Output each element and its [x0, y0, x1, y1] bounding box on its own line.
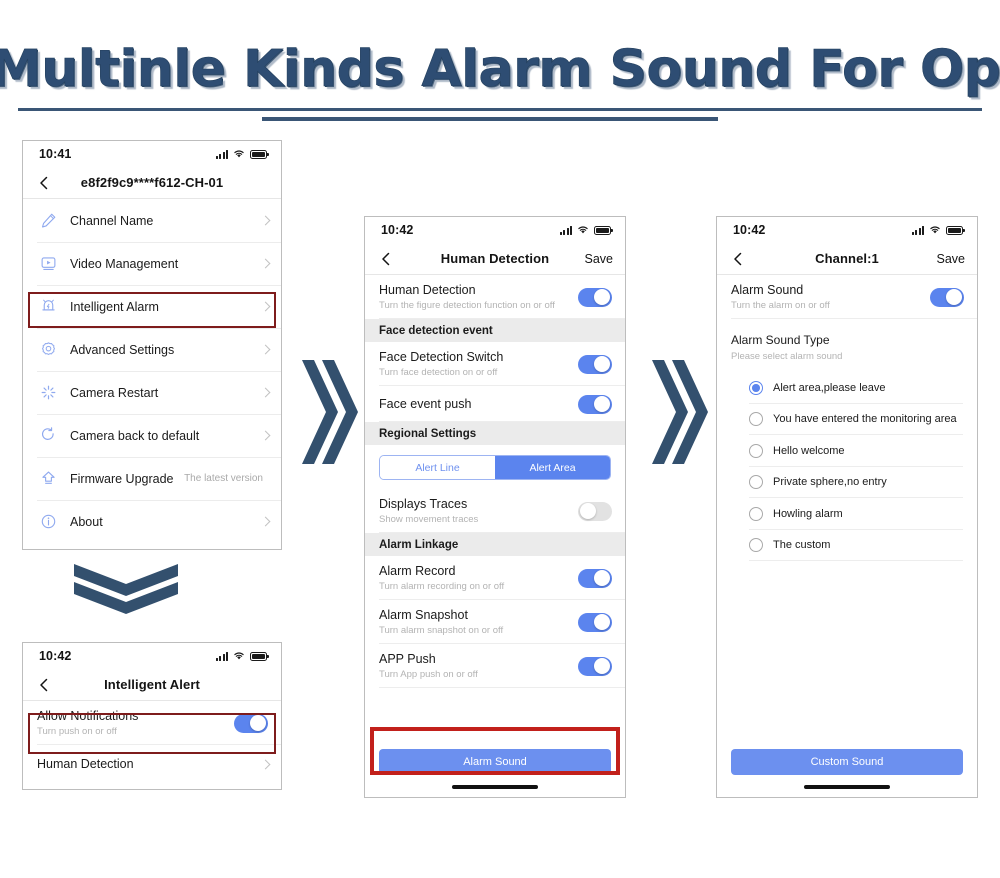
radio-option-the-custom[interactable]: The custom — [717, 530, 977, 562]
toggle-row-title: Alarm Record — [379, 563, 578, 579]
back-icon[interactable] — [37, 176, 51, 190]
group-subtitle: Please select alarm sound — [731, 351, 963, 362]
signal-icon — [560, 226, 572, 235]
radio-option-label: Alert area,please leave — [773, 382, 886, 394]
list-item-firmware-upgrade[interactable]: Firmware Upgrade The latest version — [23, 457, 281, 500]
status-bar: 10:42 — [365, 217, 625, 243]
toggle-row-allow-notifications[interactable]: Allow Notifications Turn push on or off — [23, 701, 281, 745]
home-indicator — [452, 785, 538, 789]
chevron-right-group-1 — [300, 358, 360, 466]
toggle-row-text: Face event push — [379, 396, 578, 412]
chevron-down-group — [72, 562, 180, 614]
chevron-right-icon — [261, 259, 271, 269]
nav-bar: Intelligent Alert — [23, 669, 281, 701]
toggle-row-title: Face event push — [379, 396, 578, 412]
toggle-row-subtitle: Turn face detection on or off — [379, 367, 578, 378]
info-icon — [37, 511, 59, 533]
double-chevron-down-icon — [72, 562, 180, 614]
status-icons — [912, 225, 963, 235]
alarm-sound-button[interactable]: Alarm Sound — [379, 749, 611, 775]
toggle-row-human-detection[interactable]: Human Detection Turn the figure detectio… — [365, 275, 625, 319]
toggle-row-subtitle: Turn the figure detection function on or… — [379, 300, 578, 311]
alarm-sound-type-group-header: Alarm Sound Type Please select alarm sou… — [717, 319, 977, 372]
toggle-switch[interactable] — [578, 395, 612, 414]
list-item-video-management[interactable]: Video Management — [23, 242, 281, 285]
toggle-row-text: Alarm Snapshot Turn alarm snapshot on or… — [379, 607, 578, 637]
wifi-icon — [233, 149, 245, 159]
toggle-row-text: Human Detection Turn the figure detectio… — [379, 282, 578, 312]
list-item-label: Camera Restart — [70, 386, 262, 400]
radio-option-private-sphere-no-entry[interactable]: Private sphere,no entry — [717, 467, 977, 499]
double-chevron-right-icon — [650, 358, 710, 466]
chevron-right-icon — [261, 345, 271, 355]
toggle-row-title: Allow Notifications — [37, 708, 234, 724]
toggle-row-text: Face Detection Switch Turn face detectio… — [379, 349, 578, 379]
radio-option-you-have-entered-the-monitoring-area[interactable]: You have entered the monitoring area — [717, 404, 977, 436]
gear-icon — [37, 339, 59, 361]
group-title: Alarm Sound Type — [731, 333, 963, 347]
home-indicator — [804, 785, 890, 789]
battery-icon — [250, 150, 267, 159]
list-item-human-detection[interactable]: Human Detection — [23, 745, 281, 783]
toggle-row-text: Alarm Sound Turn the alarm on or off — [731, 282, 930, 312]
primary-button-wrap: Alarm Sound — [365, 749, 625, 775]
radio-button[interactable] — [749, 538, 763, 552]
battery-icon — [250, 652, 267, 661]
chevron-right-icon — [261, 216, 271, 226]
toggle-row-text: APP Push Turn App push on or off — [379, 651, 578, 681]
segment-alert-line[interactable]: Alert Line — [380, 456, 495, 479]
chevron-right-icon — [261, 517, 271, 527]
alarm-sound-options-list: Alert area,please leave You have entered… — [717, 372, 977, 561]
phone-human-detection: 10:42 Human Detection Save Human Detecti — [364, 216, 626, 798]
toggle-row-title: Displays Traces — [379, 496, 578, 512]
status-clock: 10:42 — [733, 223, 765, 237]
save-button[interactable]: Save — [585, 252, 614, 266]
radio-button[interactable] — [749, 444, 763, 458]
status-clock: 10:42 — [39, 649, 71, 663]
toggle-switch[interactable] — [578, 288, 612, 307]
battery-icon — [594, 226, 611, 235]
section-header-alarm-linkage: Alarm Linkage — [365, 533, 625, 556]
phone-device-settings: 10:41 e8f2f9c9****f612-CH-01 — [22, 140, 282, 550]
list-item-label: Video Management — [70, 257, 262, 271]
toggle-row-subtitle: Show movement traces — [379, 514, 578, 525]
radio-option-label: Howling alarm — [773, 508, 843, 520]
custom-sound-button[interactable]: Custom Sound — [731, 749, 963, 775]
toggle-row-subtitle: Turn push on or off — [37, 726, 234, 737]
page-title-wrap: Multinle Kinds Alarm Sound For Option — [0, 44, 1000, 95]
radio-option-label: The custom — [773, 539, 830, 551]
list-item-channel-name[interactable]: Channel Name — [23, 199, 281, 242]
toggle-switch[interactable] — [234, 714, 268, 733]
back-icon[interactable] — [379, 252, 393, 266]
back-icon[interactable] — [731, 252, 745, 266]
toggle-row-subtitle: Turn the alarm on or off — [731, 300, 930, 311]
radio-option-label: You have entered the monitoring area — [773, 413, 957, 425]
primary-button-wrap: Custom Sound — [717, 749, 977, 775]
list-item-label: About — [70, 515, 262, 529]
nav-title: e8f2f9c9****f612-CH-01 — [23, 175, 281, 190]
title-rule-top — [18, 108, 982, 111]
list-item-label: Firmware Upgrade — [70, 472, 184, 486]
chevron-right-icon — [261, 431, 271, 441]
toggle-row-text: Displays Traces Show movement traces — [379, 496, 578, 526]
toggle-row-alarm-sound[interactable]: Alarm Sound Turn the alarm on or off — [717, 275, 977, 319]
segment-alert-area[interactable]: Alert Area — [495, 456, 610, 479]
list-item-label: Camera back to default — [70, 429, 262, 443]
page-title: Multinle Kinds Alarm Sound For Option — [0, 44, 1000, 95]
alarm-bell-icon — [37, 296, 59, 318]
segmented-control-wrap: Alert Line Alert Area — [365, 445, 625, 489]
toggle-switch[interactable] — [578, 657, 612, 676]
toggle-switch[interactable] — [578, 355, 612, 374]
toggle-switch[interactable] — [930, 288, 964, 307]
toggle-row-text: Allow Notifications Turn push on or off — [37, 708, 234, 738]
nav-bar: e8f2f9c9****f612-CH-01 — [23, 167, 281, 199]
phone-intelligent-alert: 10:42 Intelligent Alert Allow Notificati… — [22, 642, 282, 790]
signal-icon — [216, 150, 228, 159]
signal-icon — [216, 652, 228, 661]
restart-burst-icon — [37, 382, 59, 404]
section-header-face-detection-event: Face detection event — [365, 319, 625, 342]
status-clock: 10:41 — [39, 147, 71, 161]
toggle-row-app-push[interactable]: APP Push Turn App push on or off — [365, 644, 625, 688]
toggle-row-subtitle: Turn alarm recording on or off — [379, 581, 578, 592]
toggle-row-displays-traces[interactable]: Displays Traces Show movement traces — [365, 489, 625, 533]
toggle-row-title: Alarm Snapshot — [379, 607, 578, 623]
radio-option-hello-welcome[interactable]: Hello welcome — [717, 435, 977, 467]
status-bar: 10:41 — [23, 141, 281, 167]
radio-option-alert-area-please-leave[interactable]: Alert area,please leave — [717, 372, 977, 404]
chevron-right-group-2 — [650, 358, 710, 466]
radio-option-howling-alarm[interactable]: Howling alarm — [717, 498, 977, 530]
toggle-switch[interactable] — [578, 569, 612, 588]
toggle-switch[interactable] — [578, 502, 612, 521]
chevron-right-icon — [261, 388, 271, 398]
home-indicator-wrap — [717, 785, 977, 789]
toggle-row-title: Human Detection — [379, 282, 578, 298]
status-clock: 10:42 — [381, 223, 413, 237]
poster-canvas: Multinle Kinds Alarm Sound For Option 10… — [0, 0, 1000, 878]
list-item-advanced-settings[interactable]: Advanced Settings — [23, 328, 281, 371]
toggle-row-alarm-snapshot[interactable]: Alarm Snapshot Turn alarm snapshot on or… — [365, 600, 625, 644]
radio-button[interactable] — [749, 475, 763, 489]
radio-button[interactable] — [749, 412, 763, 426]
nav-title: Intelligent Alert — [23, 677, 281, 692]
radio-option-label: Hello welcome — [773, 445, 845, 457]
nav-bar: Human Detection Save — [365, 243, 625, 275]
double-chevron-right-icon — [300, 358, 360, 466]
chevron-right-icon — [261, 302, 271, 312]
pencil-icon — [37, 210, 59, 232]
status-icons — [216, 149, 267, 159]
toggle-row-title: APP Push — [379, 651, 578, 667]
title-rule-bottom — [262, 117, 718, 121]
status-icons — [560, 225, 611, 235]
list-item-label: Advanced Settings — [70, 343, 262, 357]
firmware-version-note: The latest version — [184, 473, 263, 484]
list-item-label: Human Detection — [37, 757, 262, 771]
toggle-row-text: Alarm Record Turn alarm recording on or … — [379, 563, 578, 593]
wifi-icon — [577, 225, 589, 235]
toggle-switch[interactable] — [578, 613, 612, 632]
signal-icon — [912, 226, 924, 235]
battery-icon — [946, 226, 963, 235]
wifi-icon — [929, 225, 941, 235]
status-bar: 10:42 — [23, 643, 281, 669]
toggle-row-title: Alarm Sound — [731, 282, 930, 298]
list-item-camera-back-to-default[interactable]: Camera back to default — [23, 414, 281, 457]
settings-list: Channel Name Video Management — [23, 199, 281, 543]
toggle-row-face-detection-switch[interactable]: Face Detection Switch Turn face detectio… — [365, 342, 625, 386]
upload-icon — [37, 468, 59, 490]
toggle-row-subtitle: Turn App push on or off — [379, 669, 578, 680]
segmented-control-region-mode[interactable]: Alert Line Alert Area — [379, 455, 611, 480]
radio-button[interactable] — [749, 381, 763, 395]
radio-button[interactable] — [749, 507, 763, 521]
toggle-row-alarm-record[interactable]: Alarm Record Turn alarm recording on or … — [365, 556, 625, 600]
refresh-icon — [37, 425, 59, 447]
list-item-label: Intelligent Alarm — [70, 300, 262, 314]
list-item-intelligent-alarm[interactable]: Intelligent Alarm — [23, 285, 281, 328]
chevron-right-icon — [261, 759, 271, 769]
back-icon[interactable] — [37, 678, 51, 692]
list-item-about[interactable]: About — [23, 500, 281, 543]
toggle-row-subtitle: Turn alarm snapshot on or off — [379, 625, 578, 636]
status-icons — [216, 651, 267, 661]
toggle-row-title: Face Detection Switch — [379, 349, 578, 365]
video-icon — [37, 253, 59, 275]
save-button[interactable]: Save — [937, 252, 966, 266]
wifi-icon — [233, 651, 245, 661]
list-item-label: Channel Name — [70, 214, 262, 228]
status-bar: 10:42 — [717, 217, 977, 243]
section-header-regional-settings: Regional Settings — [365, 422, 625, 445]
phone-alarm-sound: 10:42 Channel:1 Save Alarm Sound Turn — [716, 216, 978, 798]
home-indicator-wrap — [365, 785, 625, 789]
list-item-camera-restart[interactable]: Camera Restart — [23, 371, 281, 414]
toggle-row-face-event-push[interactable]: Face event push — [365, 386, 625, 422]
nav-bar: Channel:1 Save — [717, 243, 977, 275]
radio-option-label: Private sphere,no entry — [773, 476, 887, 488]
